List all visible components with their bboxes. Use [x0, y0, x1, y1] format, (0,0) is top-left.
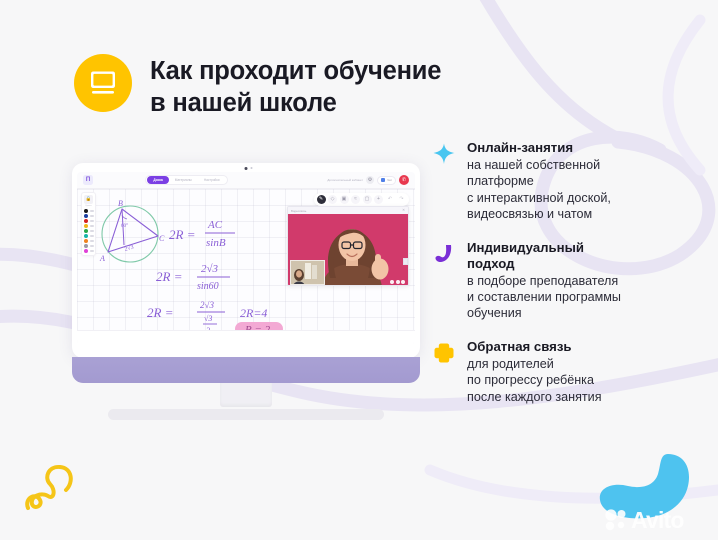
- page-title: Как проходит обучение в нашей школе: [150, 54, 441, 119]
- chat-button[interactable]: Чат: [377, 176, 396, 185]
- palette-row: [83, 229, 94, 233]
- color-swatch[interactable]: [84, 249, 88, 253]
- feature-title: Онлайн-занятия: [467, 140, 708, 156]
- stroke-preview: [90, 215, 95, 217]
- avito-watermark: Avito: [604, 508, 684, 532]
- whiteboard-area[interactable]: B A C 60° 2√3 2R = AC sinB 2R = 2√3 sin6…: [77, 189, 415, 344]
- feature-description: в подборе преподавателя и составлении пр…: [467, 273, 708, 322]
- phone-hangup-icon[interactable]: ✆: [399, 175, 409, 185]
- stroke-preview: [90, 210, 95, 212]
- palette-label: Цвета: [85, 205, 91, 207]
- feature-item-feedback: Обратная связь для родителей по прогресс…: [432, 339, 708, 405]
- stroke-preview: [90, 220, 95, 222]
- feature-title: Индивидуальный подход: [467, 240, 708, 272]
- chat-icon: [381, 178, 385, 182]
- app-topbar-actions: Дополнительный кабинет ⚙ Чат ✆: [327, 175, 409, 185]
- feature-description: для родителей по прогрессу ребёнка после…: [467, 356, 708, 405]
- monitor-stand-base: [108, 409, 384, 420]
- feature-icon-wrap: [432, 339, 458, 405]
- video-feed[interactable]: [288, 214, 408, 286]
- plus-icon: [432, 341, 456, 365]
- svg-text:2R =: 2R =: [156, 269, 182, 284]
- color-swatch[interactable]: [84, 209, 88, 213]
- stroke-preview: [90, 225, 95, 227]
- picture-in-picture[interactable]: [290, 260, 325, 285]
- stroke-preview: [90, 235, 95, 237]
- stroke-preview: [90, 230, 95, 232]
- svg-text:2√3: 2√3: [200, 300, 214, 310]
- color-swatch[interactable]: [84, 239, 88, 243]
- feature-item-online-lessons: Онлайн-занятия на нашей собственной плат…: [432, 140, 708, 223]
- pen-icon[interactable]: ✎: [317, 195, 326, 204]
- feature-list: Онлайн-занятия на нашей собственной плат…: [432, 140, 708, 422]
- app-tab-group: Доска Материалы Настройки: [145, 175, 227, 185]
- tab-settings[interactable]: Настройки: [198, 176, 226, 184]
- whiteboard-bottom-bar: [77, 330, 415, 344]
- student-portrait: [291, 261, 325, 285]
- scrollbar-handle[interactable]: [403, 258, 408, 265]
- svg-text:√3: √3: [204, 314, 212, 323]
- squiggle-decoration: [22, 452, 92, 519]
- svg-text:A: A: [99, 254, 105, 263]
- gear-icon[interactable]: ⚙: [366, 176, 374, 184]
- monitor-chin: [72, 357, 420, 383]
- squiggle-icon: [22, 452, 92, 514]
- color-swatch[interactable]: [84, 219, 88, 223]
- avito-logo-icon: [604, 508, 628, 532]
- stroke-preview: [90, 245, 95, 247]
- svg-text:2√3: 2√3: [124, 244, 135, 253]
- session-label: Дополнительный кабинет: [327, 178, 363, 182]
- more-icon[interactable]: [401, 280, 405, 284]
- svg-text:AC: AC: [207, 219, 223, 231]
- palette-row: [83, 219, 94, 223]
- video-panel-titlebar: Видеосвязь ✕: [288, 207, 408, 214]
- svg-text:2R =: 2R =: [169, 227, 195, 242]
- feature-text: Онлайн-занятия на нашей собственной плат…: [467, 140, 708, 223]
- feature-description: на нашей собственной платформе с интерак…: [467, 157, 708, 222]
- palette-row: [83, 214, 94, 218]
- webcam-icon: [245, 167, 248, 170]
- monitor-icon: [88, 70, 118, 96]
- mic-icon[interactable]: [390, 280, 394, 284]
- svg-text:C: C: [159, 234, 165, 243]
- chat-label: Чат: [387, 178, 392, 182]
- feature-title: Обратная связь: [467, 339, 708, 355]
- video-controls[interactable]: [390, 280, 405, 284]
- app-topbar: П Доска Материалы Настройки Дополнительн…: [77, 172, 415, 189]
- color-swatch[interactable]: [84, 244, 88, 248]
- redo-icon[interactable]: ↷: [397, 195, 406, 204]
- stroke-preview: [90, 250, 95, 252]
- feature-text: Обратная связь для родителей по прогресс…: [467, 339, 708, 405]
- undo-icon[interactable]: ↶: [386, 195, 395, 204]
- palette-row: [83, 224, 94, 228]
- tab-board[interactable]: Доска: [147, 176, 168, 184]
- close-icon[interactable]: ✕: [402, 209, 405, 213]
- stroke-preview: [90, 240, 95, 242]
- svg-text:2R =: 2R =: [147, 305, 173, 320]
- camera-icon[interactable]: [396, 280, 400, 284]
- color-swatch[interactable]: [84, 224, 88, 228]
- color-swatch[interactable]: [84, 229, 88, 233]
- lock-icon[interactable]: 🔒: [84, 195, 93, 204]
- app-logo-icon[interactable]: П: [83, 175, 93, 185]
- palette-row: [83, 209, 94, 213]
- color-swatch[interactable]: [84, 234, 88, 238]
- feature-item-individual-approach: Индивидуальный подход в подборе преподав…: [432, 240, 708, 322]
- avito-wordmark: Avito: [631, 509, 684, 532]
- svg-text:sinB: sinB: [206, 237, 226, 249]
- page-header: Как проходит обучение в нашей школе: [74, 54, 441, 119]
- svg-text:2R=4: 2R=4: [240, 306, 267, 320]
- eraser-icon[interactable]: ◇: [328, 195, 337, 204]
- video-panel-title: Видеосвязь: [291, 209, 306, 213]
- svg-text:2√3: 2√3: [201, 263, 219, 275]
- color-palette[interactable]: 🔒 Цвета: [81, 192, 96, 256]
- palette-row: [83, 249, 94, 253]
- add-icon[interactable]: +: [374, 195, 383, 204]
- drawing-toolbar[interactable]: ✎ ◇ ▣ ≈ ▢ + ↶ ↷: [314, 193, 410, 206]
- star-icon: [432, 142, 456, 166]
- palette-row: [83, 239, 94, 243]
- palette-row: [83, 244, 94, 248]
- monitor-stand-neck: [220, 383, 272, 407]
- app-screen: П Доска Материалы Настройки Дополнительн…: [77, 172, 415, 344]
- text-icon[interactable]: ≈: [351, 195, 360, 204]
- shapes-icon[interactable]: ▣: [340, 195, 349, 204]
- monitor-mockup: П Доска Материалы Настройки Дополнительн…: [72, 163, 420, 420]
- svg-text:B: B: [118, 199, 123, 208]
- header-badge: [74, 54, 132, 112]
- image-icon[interactable]: ▢: [363, 195, 372, 204]
- svg-text:60°: 60°: [121, 224, 128, 229]
- color-swatch[interactable]: [84, 214, 88, 218]
- svg-text:sin60: sin60: [197, 281, 219, 292]
- feature-text: Индивидуальный подход в подборе преподав…: [467, 240, 708, 322]
- monitor-body: П Доска Материалы Настройки Дополнительн…: [72, 163, 420, 358]
- feature-icon-wrap: [432, 140, 458, 223]
- hook-icon: [432, 242, 456, 266]
- palette-row: [83, 234, 94, 238]
- tab-materials[interactable]: Материалы: [169, 176, 198, 184]
- video-panel[interactable]: Видеосвязь ✕: [287, 206, 409, 286]
- feature-icon-wrap: [432, 240, 458, 322]
